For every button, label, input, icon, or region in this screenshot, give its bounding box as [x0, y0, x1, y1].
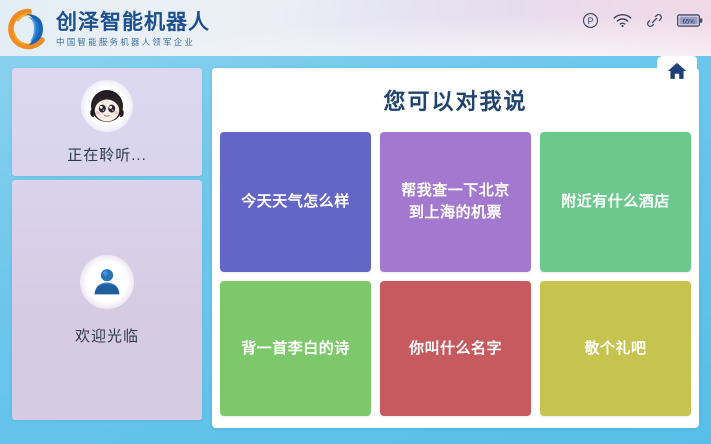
- brand-subtitle: 中国智能服务机器人领军企业: [56, 36, 210, 48]
- svg-text:P: P: [588, 16, 594, 26]
- suggestion-tile[interactable]: 附近有什么酒店: [540, 132, 691, 272]
- brand-text: 创泽智能机器人 中国智能服务机器人领军企业: [56, 11, 210, 48]
- listening-status-label: 正在聆听...: [67, 144, 147, 165]
- welcome-label: 欢迎光临: [75, 325, 139, 346]
- home-button[interactable]: [657, 56, 697, 90]
- battery-percent-label: 65%: [682, 19, 695, 25]
- main-panel: 您可以对我说 今天天气怎么样 帮我查一下北京 到上海的机票 附近有什么酒店 背一…: [212, 68, 699, 428]
- suggestion-tile[interactable]: 今天天气怎么样: [220, 132, 371, 272]
- robot-face-avatar-icon: [81, 80, 133, 132]
- suggestion-tile[interactable]: 背一首李白的诗: [220, 281, 371, 416]
- wifi-icon[interactable]: [613, 13, 632, 28]
- robot-kiosk-screen: 创泽智能机器人 中国智能服务机器人领军企业 P: [0, 0, 711, 444]
- app-header: 创泽智能机器人 中国智能服务机器人领军企业 P: [0, 0, 711, 56]
- link-icon[interactable]: [646, 12, 663, 29]
- battery-icon[interactable]: 65%: [677, 13, 703, 28]
- status-icon-tray: P: [582, 12, 703, 29]
- home-icon: [666, 60, 688, 87]
- parking-p-icon[interactable]: P: [582, 12, 599, 29]
- sidebar-card-welcome[interactable]: 欢迎光临: [12, 180, 202, 420]
- chuangze-circle-logo-icon: [8, 8, 50, 50]
- suggestion-tile[interactable]: 帮我查一下北京 到上海的机票: [380, 132, 531, 272]
- user-person-icon: [80, 255, 134, 309]
- brand-title: 创泽智能机器人: [56, 11, 210, 35]
- page-title: 您可以对我说: [212, 68, 699, 116]
- sidebar-card-listening[interactable]: 正在聆听...: [12, 68, 202, 176]
- suggestion-tile[interactable]: 你叫什么名字: [380, 281, 531, 416]
- suggestion-tile-grid: 今天天气怎么样 帮我查一下北京 到上海的机票 附近有什么酒店 背一首李白的诗 你…: [220, 132, 691, 416]
- left-sidebar: 正在聆听... 欢迎光临: [12, 68, 202, 420]
- suggestion-tile[interactable]: 敬个礼吧: [540, 281, 691, 416]
- brand-logo: 创泽智能机器人 中国智能服务机器人领军企业: [8, 8, 210, 50]
